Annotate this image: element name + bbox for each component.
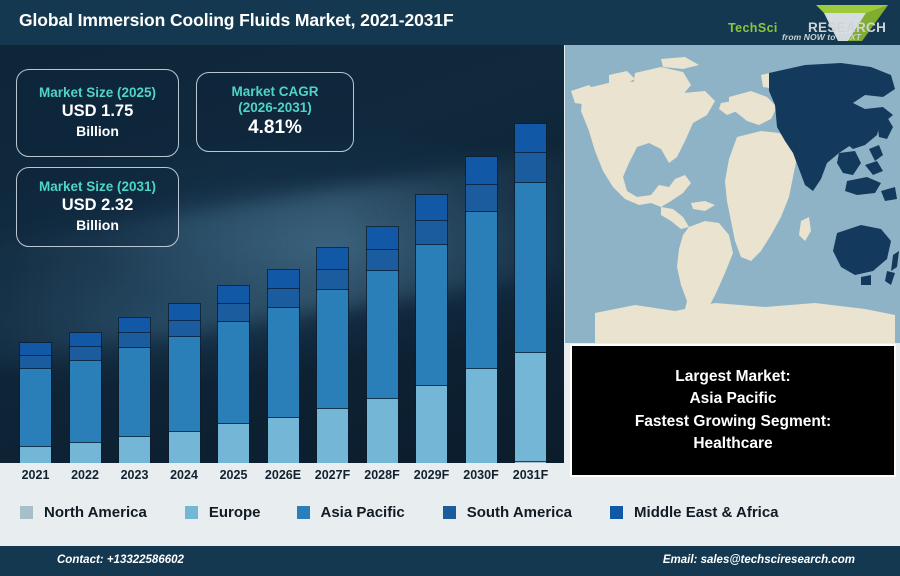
bar-segment-south-america-2021 xyxy=(20,356,51,369)
bar-segment-middle-east-africa-2030F xyxy=(466,157,497,185)
legend-swatch-icon xyxy=(20,506,33,519)
callout-box: Largest Market: Asia Pacific Fastest Gro… xyxy=(570,344,896,477)
world-map xyxy=(565,45,900,343)
legend-swatch-icon xyxy=(297,506,310,519)
bar-segment-middle-east-africa-2028F xyxy=(367,227,398,250)
bar-2030F xyxy=(466,157,497,480)
stat-label: Market CAGR xyxy=(231,84,318,100)
legend-label: Europe xyxy=(209,504,261,521)
bar-2028F xyxy=(367,227,398,480)
callout-fastest-segment-label: Fastest Growing Segment: xyxy=(635,411,831,433)
stat-label-period: (2026-2031) xyxy=(238,100,312,116)
x-axis-tick-2029F: 2029F xyxy=(405,468,459,482)
bar-segment-europe-2030F xyxy=(466,369,497,467)
infographic-root: Global Immersion Cooling Fluids Market, … xyxy=(0,0,900,576)
legend-item-europe[interactable]: Europe xyxy=(185,504,261,521)
callout-largest-market-label: Largest Market: xyxy=(675,366,790,388)
stat-value: USD 2.32 xyxy=(62,195,134,216)
stat-value: USD 1.75 xyxy=(62,101,134,122)
bar-2026E xyxy=(268,270,299,480)
bar-segment-middle-east-africa-2024 xyxy=(169,304,200,320)
legend-label: Asia Pacific xyxy=(321,504,405,521)
bar-segment-europe-2029F xyxy=(416,386,447,471)
legend-swatch-icon xyxy=(185,506,198,519)
bar-segment-middle-east-africa-2021 xyxy=(20,343,51,356)
x-axis: 202120222023202420252026E2027F2028F2029F… xyxy=(0,463,564,493)
bar-2031F xyxy=(515,124,546,480)
x-axis-tick-2028F: 2028F xyxy=(355,468,409,482)
x-axis-tick-2031F: 2031F xyxy=(504,468,558,482)
bar-segment-south-america-2030F xyxy=(466,185,497,212)
stat-unit: Billion xyxy=(76,216,119,234)
bar-segment-south-america-2022 xyxy=(70,347,101,361)
bar-segment-south-america-2027F xyxy=(317,270,348,290)
stat-card-market-size-2031: Market Size (2031) USD 2.32 Billion xyxy=(16,167,179,247)
stat-label: Market Size (2031) xyxy=(39,179,156,195)
legend-item-asia-pacific[interactable]: Asia Pacific xyxy=(297,504,405,521)
bar-segment-south-america-2025 xyxy=(218,304,249,322)
bar-segment-asia-pacific-2023 xyxy=(119,348,150,437)
bar-2021 xyxy=(20,343,51,480)
bar-segment-asia-pacific-2031F xyxy=(515,183,546,354)
chart-legend: North AmericaEuropeAsia PacificSouth Ame… xyxy=(0,493,900,531)
bar-segment-south-america-2031F xyxy=(515,153,546,182)
bar-segment-asia-pacific-2027F xyxy=(317,290,348,409)
bar-segment-middle-east-africa-2023 xyxy=(119,318,150,333)
stat-value: 4.81% xyxy=(248,116,302,140)
legend-item-north-america[interactable]: North America xyxy=(20,504,147,521)
legend-swatch-icon xyxy=(610,506,623,519)
bar-segment-asia-pacific-2025 xyxy=(218,322,249,425)
x-axis-tick-2030F: 2030F xyxy=(454,468,508,482)
logo-tagline: from NOW to NEXT xyxy=(782,32,861,42)
bar-segment-asia-pacific-2026E xyxy=(268,308,299,418)
page-title: Global Immersion Cooling Fluids Market, … xyxy=(19,10,454,31)
bar-segment-south-america-2023 xyxy=(119,333,150,348)
footer-bar: Contact: +13322586602 Email: sales@techs… xyxy=(0,546,900,576)
bar-2027F xyxy=(317,248,348,480)
bar-segment-middle-east-africa-2031F xyxy=(515,124,546,153)
legend-item-south-america[interactable]: South America xyxy=(443,504,572,521)
bar-segment-europe-2031F xyxy=(515,353,546,462)
x-axis-tick-2022: 2022 xyxy=(58,468,112,482)
stat-card-market-cagr: Market CAGR (2026-2031) 4.81% xyxy=(196,72,354,152)
footer-email: Email: sales@techsciresearch.com xyxy=(663,554,855,566)
bar-segment-asia-pacific-2024 xyxy=(169,337,200,432)
legend-label: North America xyxy=(44,504,147,521)
x-axis-tick-2024: 2024 xyxy=(157,468,211,482)
bar-2029F xyxy=(416,195,447,480)
callout-fastest-segment-value: Healthcare xyxy=(693,433,772,455)
bar-2023 xyxy=(119,318,150,480)
bar-segment-south-america-2029F xyxy=(416,221,447,245)
x-axis-tick-2023: 2023 xyxy=(108,468,162,482)
x-axis-tick-2021: 2021 xyxy=(9,468,63,482)
bar-segment-asia-pacific-2022 xyxy=(70,361,101,443)
world-map-svg xyxy=(565,45,900,343)
bar-segment-middle-east-africa-2022 xyxy=(70,333,101,347)
logo-text-tech: TechSci xyxy=(728,21,778,35)
bar-segment-middle-east-africa-2025 xyxy=(218,286,249,304)
bar-2022 xyxy=(70,333,101,480)
stat-label: Market Size (2025) xyxy=(39,85,156,101)
x-axis-tick-2026E: 2026E xyxy=(256,468,310,482)
bar-segment-asia-pacific-2021 xyxy=(20,369,51,448)
bar-segment-asia-pacific-2028F xyxy=(367,271,398,399)
bar-segment-asia-pacific-2030F xyxy=(466,212,497,369)
legend-item-middle-east-africa[interactable]: Middle East & Africa xyxy=(610,504,778,521)
legend-label: Middle East & Africa xyxy=(634,504,778,521)
bar-segment-middle-east-africa-2029F xyxy=(416,195,447,220)
bar-2024 xyxy=(169,304,200,480)
bar-segment-asia-pacific-2029F xyxy=(416,245,447,387)
bar-2025 xyxy=(218,286,249,480)
legend-swatch-icon xyxy=(443,506,456,519)
bar-segment-south-america-2028F xyxy=(367,250,398,272)
bar-segment-middle-east-africa-2026E xyxy=(268,270,299,289)
bar-segment-middle-east-africa-2027F xyxy=(317,248,348,270)
bar-segment-south-america-2026E xyxy=(268,289,299,308)
legend-label: South America xyxy=(467,504,572,521)
callout-largest-market-value: Asia Pacific xyxy=(689,388,776,410)
stat-card-market-size-2025: Market Size (2025) USD 1.75 Billion xyxy=(16,69,179,157)
x-axis-tick-2025: 2025 xyxy=(207,468,261,482)
techsci-research-logo: TechSci RESEARCH from NOW to NEXT xyxy=(720,3,892,43)
footer-contact: Contact: +13322586602 xyxy=(57,554,184,566)
x-axis-tick-2027F: 2027F xyxy=(306,468,360,482)
header-bar: Global Immersion Cooling Fluids Market, … xyxy=(0,0,900,45)
stat-unit: Billion xyxy=(76,122,119,140)
bar-segment-south-america-2024 xyxy=(169,321,200,337)
